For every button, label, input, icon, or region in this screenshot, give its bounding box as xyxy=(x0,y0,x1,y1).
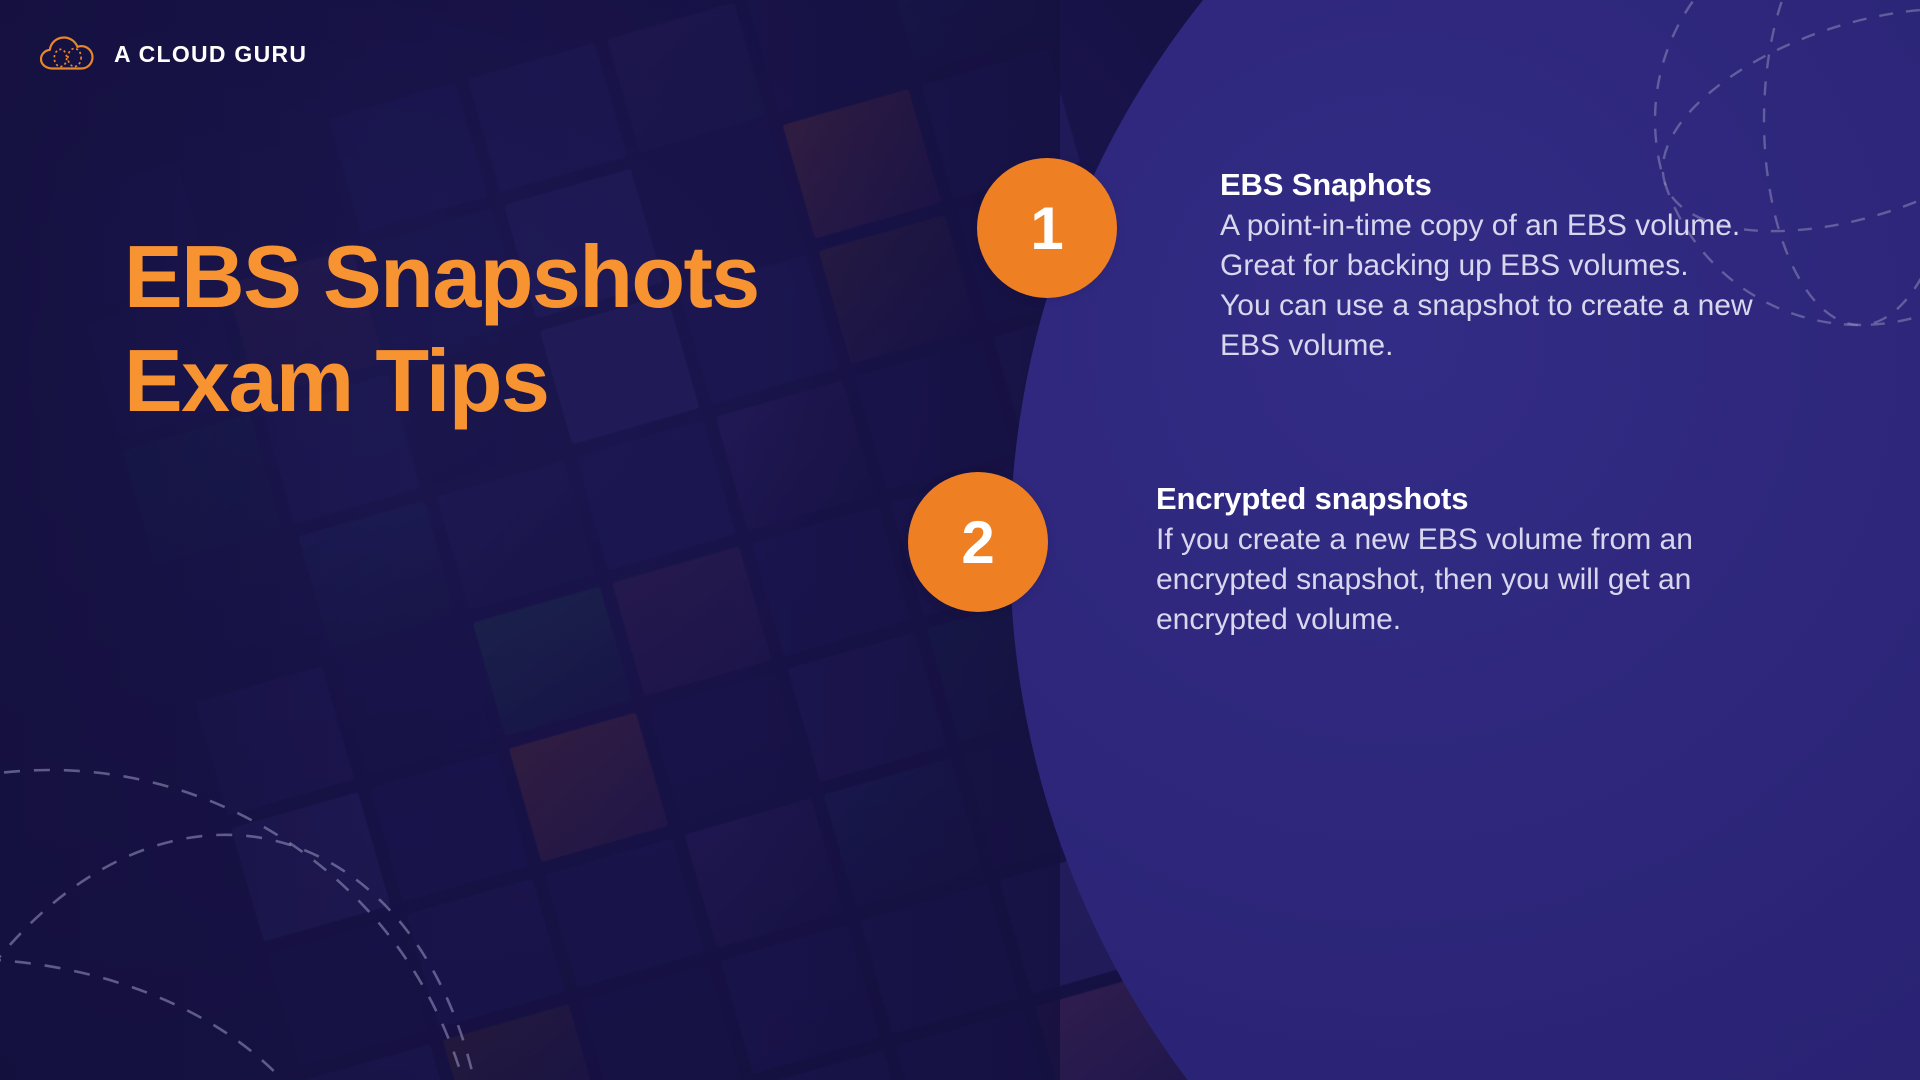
slide-title-line-2: Exam Tips xyxy=(124,329,759,433)
exam-tip-lines-1: A point-in-time copy of an EBS volume. G… xyxy=(1220,206,1753,366)
exam-tip-line: encrypted volume. xyxy=(1156,600,1693,640)
exam-tip-line: EBS volume. xyxy=(1220,326,1753,366)
brand-name-label: A CLOUD GURU xyxy=(114,41,307,68)
exam-tip-heading-1: EBS Snaphots xyxy=(1220,167,1753,203)
exam-tip-line: If you create a new EBS volume from an xyxy=(1156,520,1693,560)
exam-tip-line: You can use a snapshot to create a new xyxy=(1220,286,1753,326)
exam-tip-body-1: EBS Snaphots A point-in-time copy of an … xyxy=(1220,158,1753,366)
step-number-badge-2: 2 xyxy=(908,472,1048,612)
exam-tip-heading-2: Encrypted snapshots xyxy=(1156,481,1693,517)
cloud-guru-cloud-icon xyxy=(38,34,100,74)
exam-tip-item-2: 2 Encrypted snapshots If you create a ne… xyxy=(908,472,1693,640)
exam-tip-lines-2: If you create a new EBS volume from an e… xyxy=(1156,520,1693,640)
exam-tip-line: encrypted snapshot, then you will get an xyxy=(1156,560,1693,600)
slide-canvas: A CLOUD GURU EBS Snapshots Exam Tips 1 E… xyxy=(0,0,1920,1080)
exam-tip-line: A point-in-time copy of an EBS volume. xyxy=(1220,206,1753,246)
collage-dim-overlay xyxy=(0,0,1060,1080)
exam-tip-body-2: Encrypted snapshots If you create a new … xyxy=(1156,472,1693,640)
exam-tip-line: Great for backing up EBS volumes. xyxy=(1220,246,1753,286)
step-number-badge-1: 1 xyxy=(977,158,1117,298)
brand-logo[interactable]: A CLOUD GURU xyxy=(38,34,307,74)
slide-title-line-1: EBS Snapshots xyxy=(124,225,759,329)
slide-title: EBS Snapshots Exam Tips xyxy=(124,225,759,433)
exam-tip-item-1: 1 EBS Snaphots A point-in-time copy of a… xyxy=(977,158,1753,366)
